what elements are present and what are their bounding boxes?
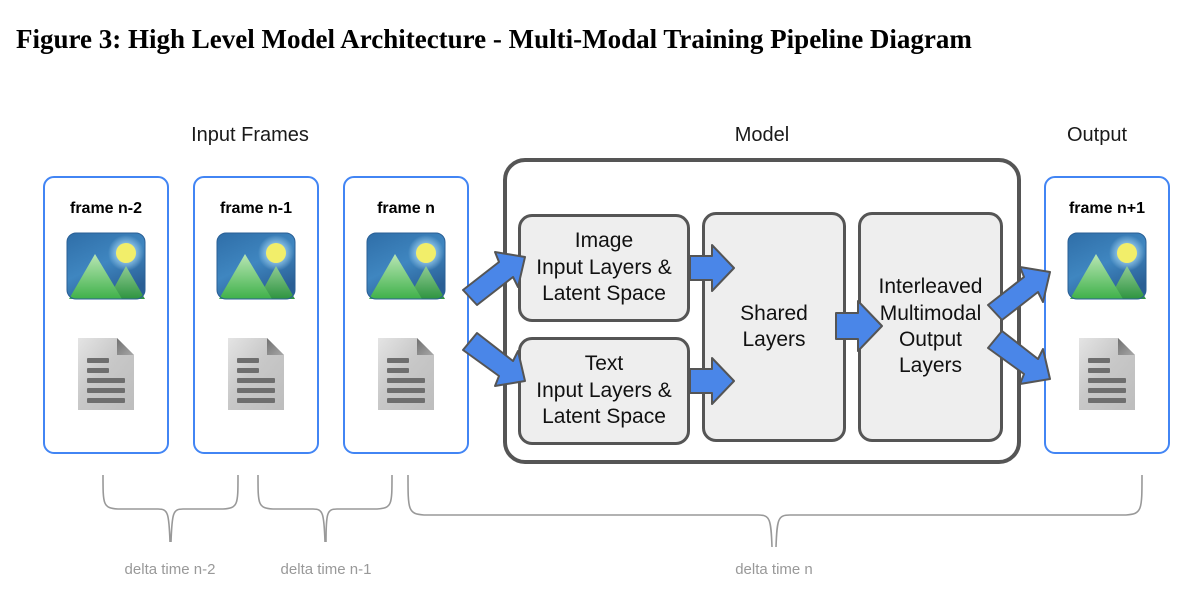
document-icon bbox=[225, 336, 287, 412]
model-block-label: SharedLayers bbox=[740, 301, 808, 354]
model-block-label: ImageInput Layers &Latent Space bbox=[536, 228, 671, 307]
figure-title: Figure 3: High Level Model Architecture … bbox=[16, 24, 972, 55]
picture-icon bbox=[66, 232, 146, 300]
model-block-text-input[interactable]: TextInput Layers &Latent Space bbox=[518, 337, 690, 445]
frame-title: frame n-2 bbox=[45, 200, 167, 218]
picture-icon bbox=[1067, 232, 1147, 300]
document-icon bbox=[75, 336, 137, 412]
section-label-input-frames: Input Frames bbox=[150, 124, 350, 147]
brace-label-delta-time-n: delta time n bbox=[674, 561, 874, 578]
input-frame-card-2[interactable]: frame n bbox=[343, 176, 469, 454]
brace-delta-time-n-1 bbox=[258, 475, 392, 542]
document-icon bbox=[1076, 336, 1138, 412]
model-block-label: TextInput Layers &Latent Space bbox=[536, 351, 671, 430]
document-icon bbox=[375, 336, 437, 412]
model-block-multimodal-output[interactable]: InterleavedMultimodalOutputLayers bbox=[858, 212, 1003, 442]
frame-title: frame n+1 bbox=[1046, 200, 1168, 218]
picture-icon bbox=[366, 232, 446, 300]
brace-delta-time-n bbox=[408, 475, 1142, 547]
frame-title: frame n bbox=[345, 200, 467, 218]
input-frame-card-0[interactable]: frame n-2 bbox=[43, 176, 169, 454]
picture-icon bbox=[216, 232, 296, 300]
brace-label-delta-time-n-1: delta time n-1 bbox=[226, 561, 426, 578]
model-block-shared-layers[interactable]: SharedLayers bbox=[702, 212, 846, 442]
brace-delta-time-n-2 bbox=[103, 475, 238, 542]
frame-title: frame n-1 bbox=[195, 200, 317, 218]
model-block-label: InterleavedMultimodalOutputLayers bbox=[879, 274, 983, 380]
input-frame-card-1[interactable]: frame n-1 bbox=[193, 176, 319, 454]
section-label-output: Output bbox=[1032, 124, 1162, 147]
model-block-image-input[interactable]: ImageInput Layers &Latent Space bbox=[518, 214, 690, 322]
output-frame-card[interactable]: frame n+1 bbox=[1044, 176, 1170, 454]
section-label-model: Model bbox=[662, 124, 862, 147]
